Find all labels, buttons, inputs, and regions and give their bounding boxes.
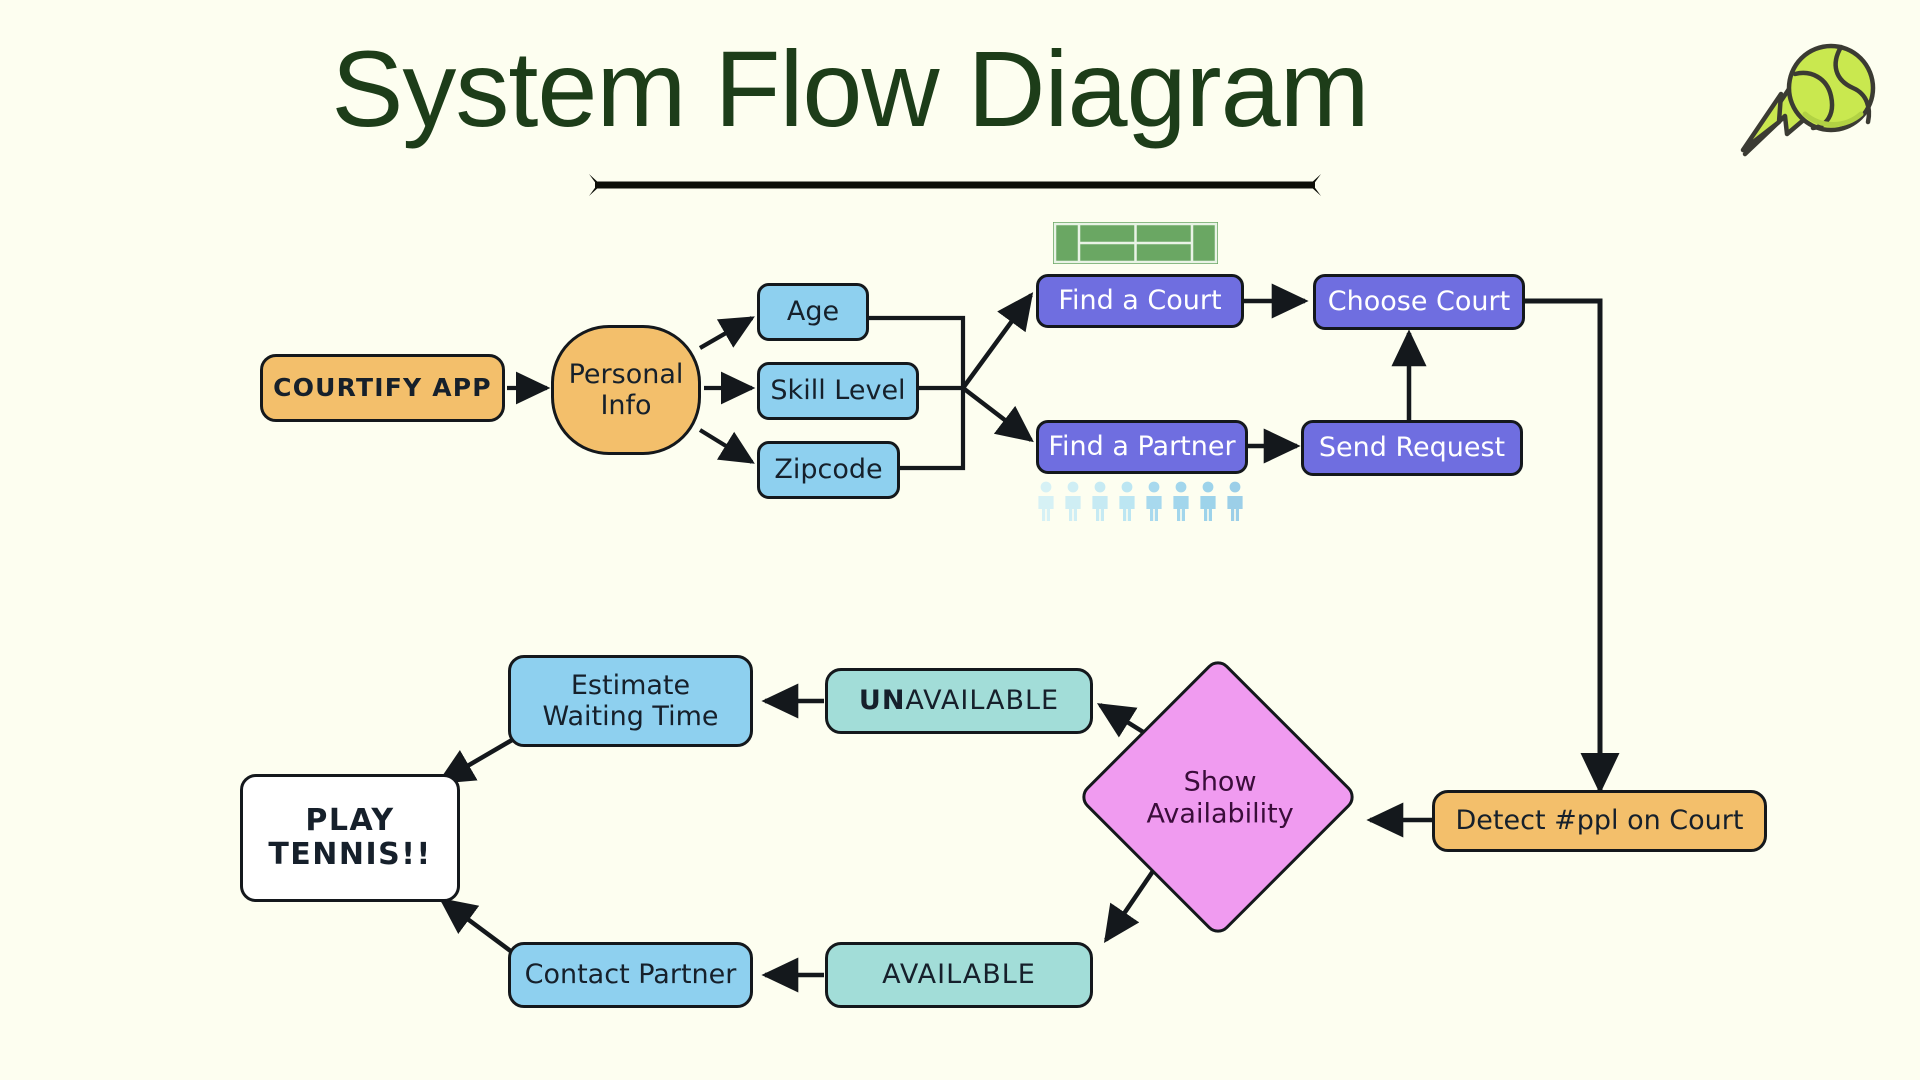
person-icon xyxy=(1197,480,1219,522)
person-icon xyxy=(1035,480,1057,522)
node-label: Age xyxy=(787,296,839,327)
node-zipcode[interactable]: Zipcode xyxy=(757,441,900,499)
node-choose-court[interactable]: Choose Court xyxy=(1313,274,1525,330)
people-group-icon xyxy=(1035,480,1240,522)
person-icon xyxy=(1224,480,1246,522)
node-label: Contact Partner xyxy=(525,959,737,990)
person-icon xyxy=(1062,480,1084,522)
node-age[interactable]: Age xyxy=(757,283,869,341)
title-divider-bar xyxy=(585,172,1325,198)
person-icon xyxy=(1143,480,1165,522)
node-label: Find a Court xyxy=(1058,285,1221,316)
node-detect-ppl-on-court[interactable]: Detect #ppl on Court xyxy=(1432,790,1767,852)
node-find-a-court[interactable]: Find a Court xyxy=(1036,274,1244,328)
node-available[interactable]: AVAILABLE xyxy=(825,942,1093,1008)
person-icon xyxy=(1116,480,1138,522)
node-label: Skill Level xyxy=(770,375,905,406)
slide-canvas: System Flow Diagram xyxy=(0,0,1920,1080)
connector-layer xyxy=(0,0,1920,1080)
node-label: Detect #ppl on Court xyxy=(1456,805,1744,836)
node-label: Find a Partner xyxy=(1048,431,1235,462)
node-label: Zipcode xyxy=(774,454,882,485)
node-label: Choose Court xyxy=(1328,286,1510,317)
page-title: System Flow Diagram xyxy=(0,26,1700,151)
node-label: AVAILABLE xyxy=(905,685,1059,716)
node-contact-partner[interactable]: Contact Partner xyxy=(508,942,753,1008)
node-label-bold-prefix: UN xyxy=(859,685,906,716)
node-show-availability[interactable]: Show Availability xyxy=(1077,656,1360,939)
person-icon xyxy=(1089,480,1111,522)
node-label: Show Availability xyxy=(1090,767,1350,832)
tennis-court-icon xyxy=(1053,222,1218,264)
node-label: PLAY TENNIS!! xyxy=(268,804,431,873)
node-unavailable[interactable]: UNAVAILABLE xyxy=(825,668,1093,734)
node-label: Estimate Waiting Time xyxy=(542,670,718,732)
node-courtify-app[interactable]: COURTIFY APP xyxy=(260,354,505,422)
node-label: COURTIFY APP xyxy=(273,374,492,403)
node-send-request[interactable]: Send Request xyxy=(1301,420,1523,476)
person-icon xyxy=(1170,480,1192,522)
node-label: AVAILABLE xyxy=(882,959,1036,990)
node-personal-info[interactable]: Personal Info xyxy=(551,325,701,455)
tennis-ball-icon xyxy=(1735,30,1895,170)
node-play-tennis[interactable]: PLAY TENNIS!! xyxy=(240,774,460,902)
node-find-a-partner[interactable]: Find a Partner xyxy=(1036,420,1248,474)
node-estimate-waiting-time[interactable]: Estimate Waiting Time xyxy=(508,655,753,747)
node-label: Personal Info xyxy=(569,359,684,421)
node-skill-level[interactable]: Skill Level xyxy=(757,362,919,420)
node-label: Send Request xyxy=(1319,432,1505,463)
